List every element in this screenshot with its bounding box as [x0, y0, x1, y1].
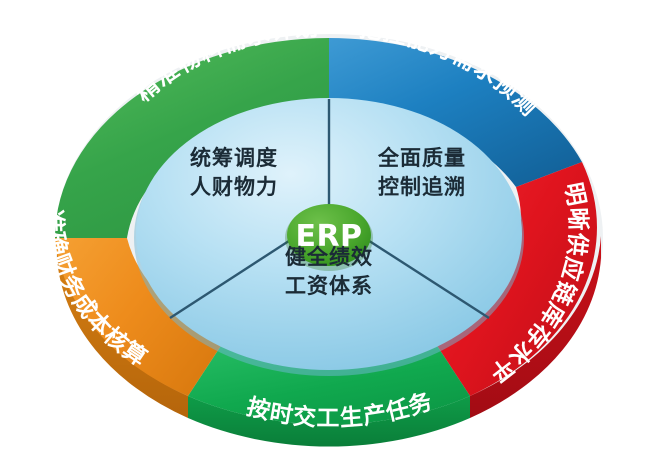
inner-label-performance-salary-line1: 健全绩效 — [285, 245, 373, 269]
erp-diagram-canvas: ERP 统筹调度 人财物力 全面质量 控制追溯 健全绩效 工资体系 精准物料需求… — [0, 0, 658, 451]
inner-label-quality-control-line2: 控制追溯 — [378, 175, 466, 199]
inner-label-performance-salary-line2: 工资体系 — [285, 274, 373, 298]
inner-label-quality-control-line1: 全面质量 — [377, 146, 466, 170]
erp-donut-diagram: ERP 统筹调度 人财物力 全面质量 控制追溯 健全绩效 工资体系 精准物料需求… — [0, 0, 658, 451]
inner-label-resource-scheduling-line2: 人财物力 — [190, 175, 278, 199]
inner-label-resource-scheduling-line1: 统筹调度 — [190, 146, 278, 170]
